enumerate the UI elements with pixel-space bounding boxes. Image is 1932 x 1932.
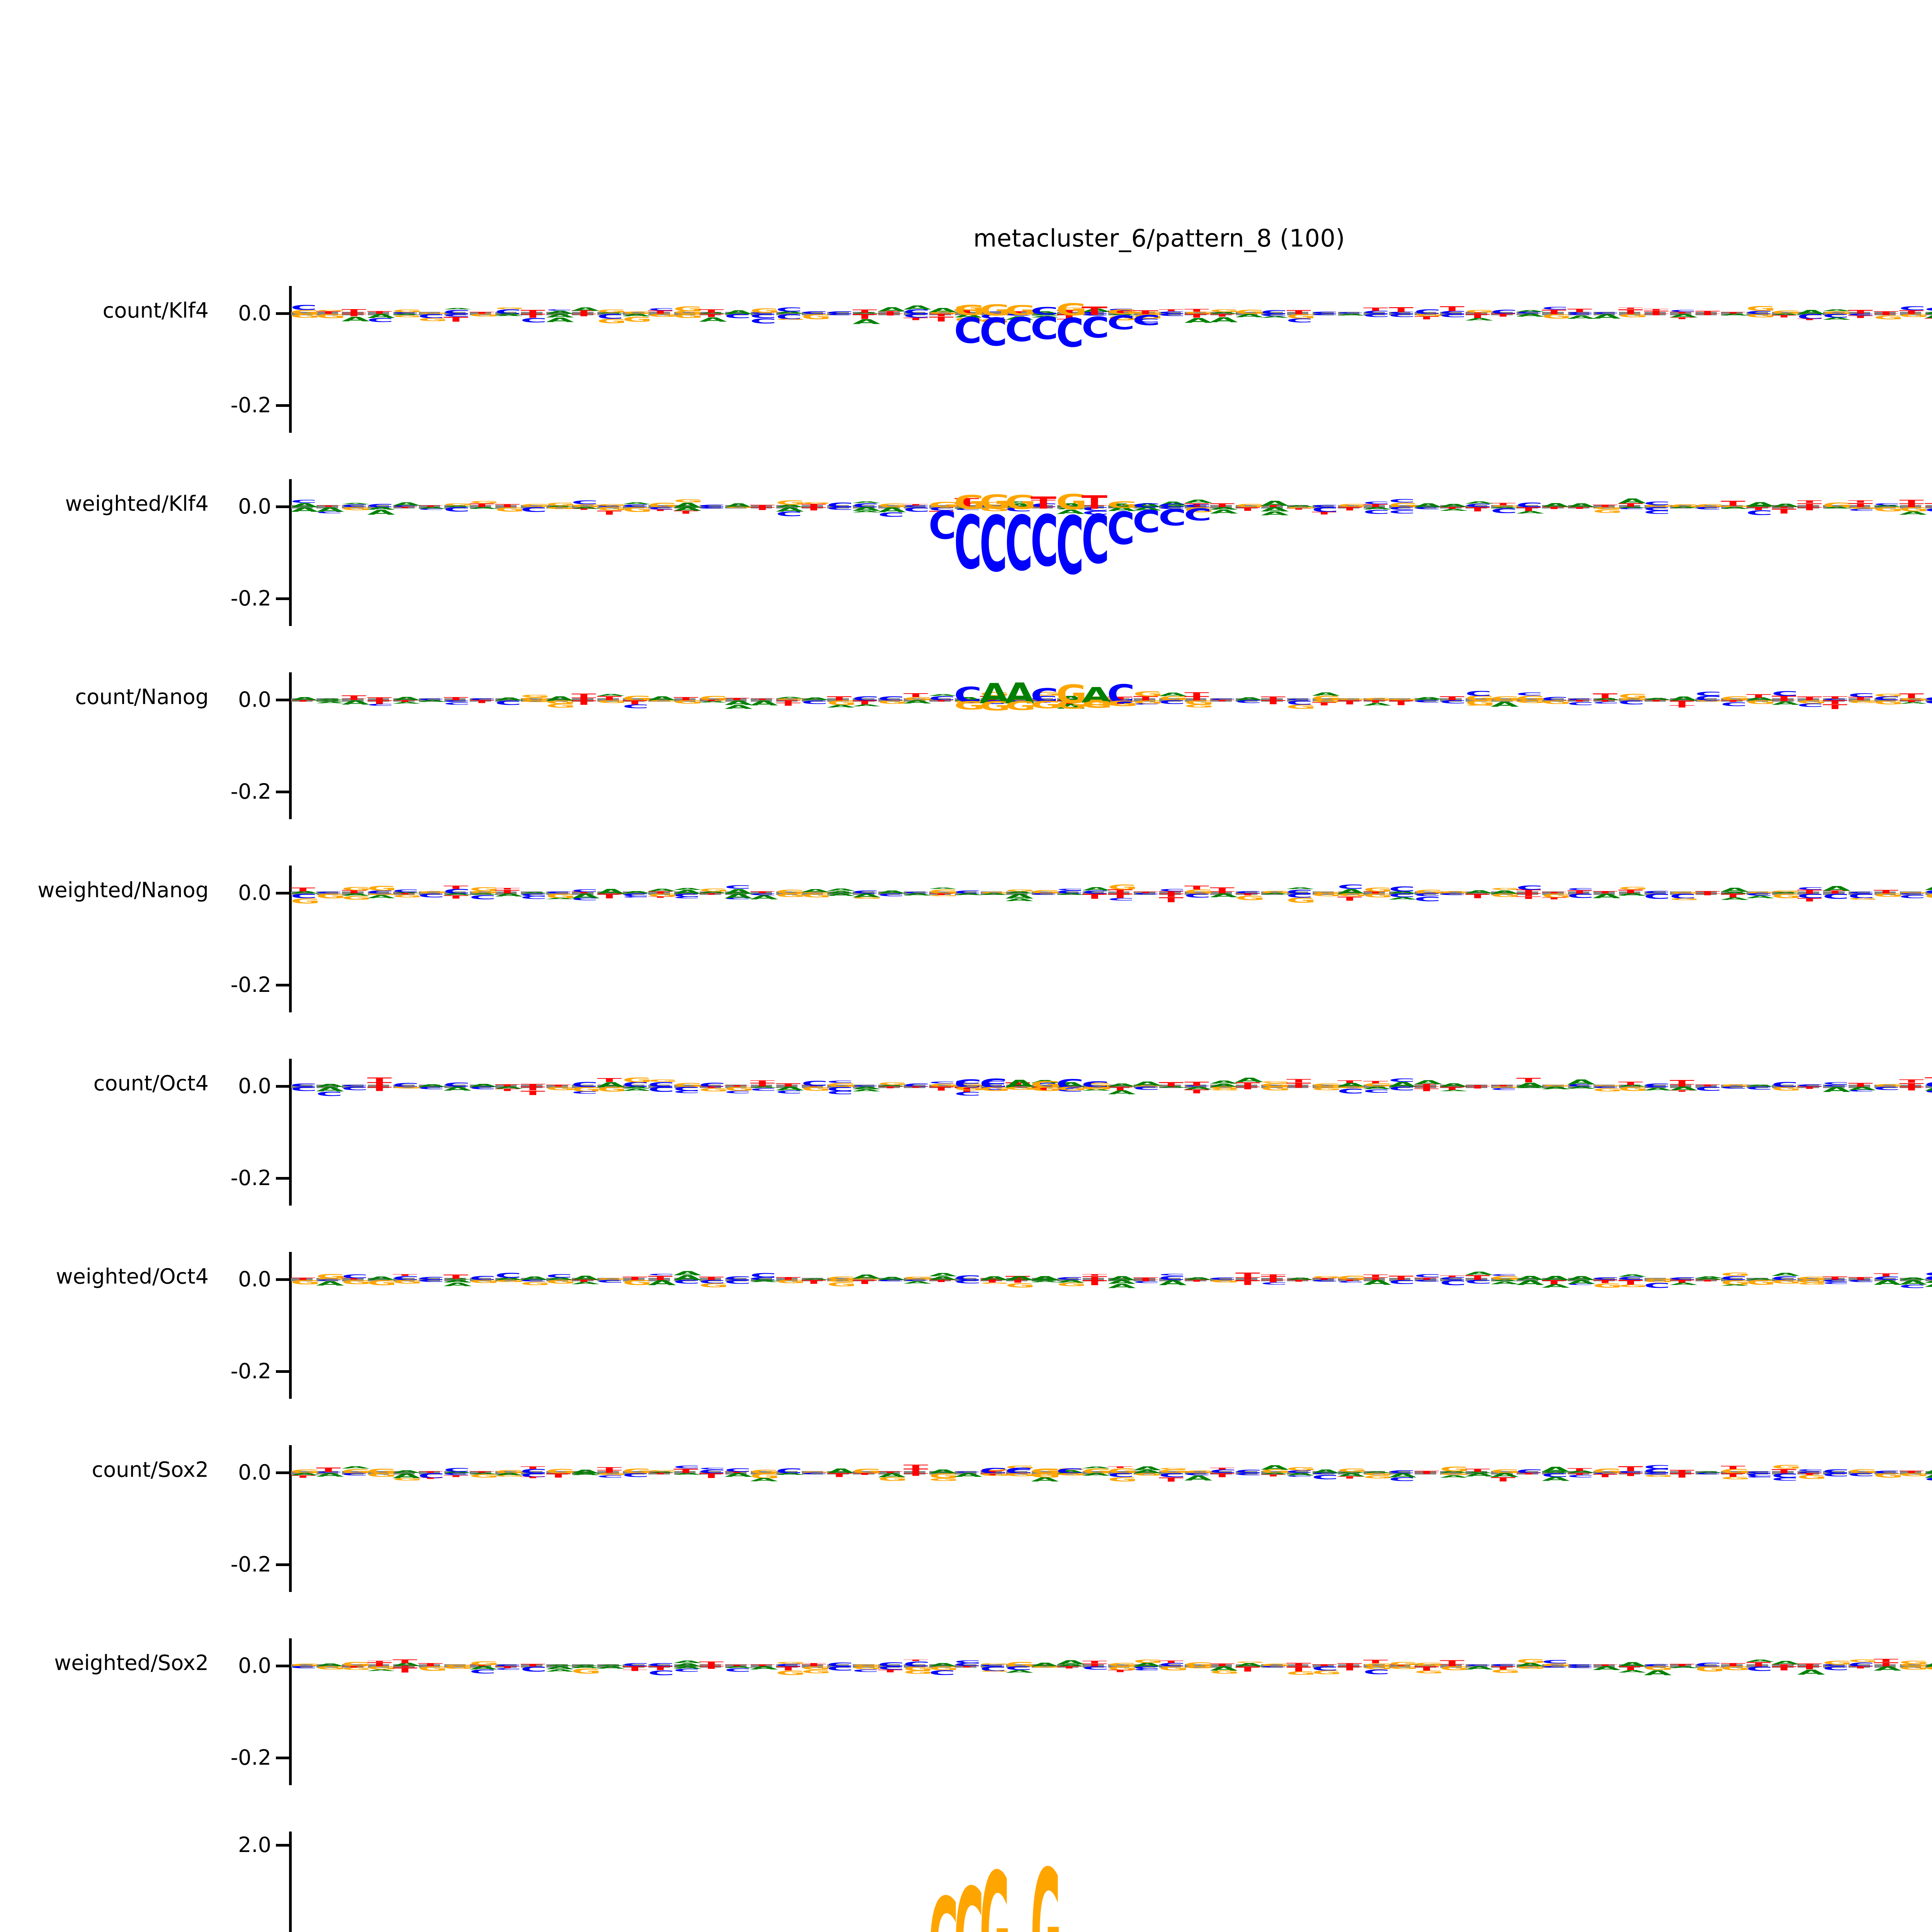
logo-letter-G: G: [393, 1279, 414, 1280]
logo-letter-A: A: [1874, 1666, 1895, 1667]
logo-letter-T: T: [520, 1083, 542, 1084]
logo-letter-C: C: [673, 1279, 695, 1280]
logo-letter-C: C: [418, 1086, 439, 1087]
logo-letter-C: C: [1082, 1080, 1105, 1082]
logo-letter-G: G: [367, 1279, 388, 1280]
logo-letter-G: G: [1235, 503, 1257, 504]
logo-letter-G: G: [648, 502, 669, 503]
logo-letter-C: C: [1082, 507, 1105, 590]
logo-letter-C: C: [724, 1468, 746, 1468]
logo-letter-G: G: [1184, 1662, 1206, 1662]
logo-letter-G: G: [469, 1474, 491, 1474]
y-tick-label: 0.0: [238, 1269, 271, 1290]
logo-letter-C: C: [1644, 501, 1665, 502]
logo-letter-A: A: [546, 317, 567, 318]
logo-letter-A: A: [827, 1468, 848, 1469]
logo-letter-G: G: [954, 303, 977, 307]
logo-letter-A: A: [852, 1274, 874, 1274]
logo-letter-C: C: [1159, 313, 1180, 314]
logo-letter-C: C: [724, 1276, 746, 1276]
logo-letter-A: A: [1899, 1279, 1920, 1280]
logo-letter-A: A: [1363, 507, 1384, 507]
logo-letter-T: T: [1593, 1279, 1614, 1280]
logo-letter-G: G: [316, 1666, 337, 1666]
logo-letter-C: C: [520, 893, 542, 893]
logo-letter-T: T: [827, 696, 848, 696]
logo-letter-C: C: [1414, 309, 1435, 310]
logo-letter-C: C: [1797, 703, 1818, 703]
logo-letter-G: G: [1797, 1279, 1818, 1280]
logo-letter-G: G: [903, 1670, 925, 1670]
y-tick-label: -0.2: [231, 1361, 271, 1382]
logo-letter-C: C: [1899, 1284, 1920, 1284]
logo-letter-A: A: [1899, 1277, 1920, 1277]
logo-letter-G: G: [1772, 1464, 1793, 1465]
logo-letter-C: C: [1312, 1666, 1333, 1667]
logo-letter-C: C: [776, 1468, 797, 1468]
logo-letter-C: C: [724, 885, 746, 885]
logo-letter-G: G: [1031, 1468, 1054, 1469]
logo-letter-G: G: [597, 1086, 618, 1087]
logo-letter-T: T: [1899, 693, 1920, 694]
logo-letter-G: G: [1542, 313, 1563, 314]
y-tick-mark: [276, 1085, 289, 1088]
logo-letter-A: A: [1542, 1275, 1563, 1276]
logo-letter-T: T: [1133, 1277, 1155, 1277]
logo-letter-G: G: [1056, 301, 1079, 306]
y-tick-mark: [276, 1370, 289, 1373]
logo-letter-G: G: [469, 1661, 491, 1661]
logo-letter-T: T: [342, 309, 363, 309]
logo-letter-T: T: [1874, 311, 1895, 311]
logo-letter-T: T: [929, 313, 950, 314]
logo-letter-C: C: [1389, 498, 1410, 499]
logo-letter-A: A: [1797, 309, 1818, 310]
logo-letter-G: G: [393, 1478, 414, 1478]
logo-letter-A: A: [1542, 503, 1563, 503]
logo-letter-G: G: [1465, 700, 1486, 701]
logo-letter-T: T: [1899, 1086, 1920, 1087]
logo-letter-A: A: [929, 1272, 950, 1273]
logo-letter-G: G: [1772, 1086, 1793, 1087]
logo-letter-G: G: [1286, 704, 1308, 705]
logo-letter-A: A: [1772, 1660, 1793, 1661]
y-tick-label: 2.0: [238, 1835, 271, 1855]
logo-letter-A: A: [1848, 1086, 1869, 1087]
logo-letter-A: A: [827, 893, 848, 893]
logo-letter-C: C: [520, 317, 542, 318]
logo-letter-C: C: [1542, 1660, 1563, 1660]
logo-letter-A: A: [1210, 1080, 1231, 1081]
logo-letter-T: T: [1286, 310, 1308, 310]
logo-letter-G: G: [1593, 1283, 1614, 1284]
logo-letter-G: G: [954, 1086, 977, 1087]
logo-letter-C: C: [1746, 510, 1767, 510]
logo-letter-G: G: [393, 309, 414, 310]
logo-letter-A: A: [903, 700, 925, 700]
logo-letter-C: C: [1363, 1089, 1384, 1089]
logo-letter-T: T: [1925, 502, 1932, 503]
logo-letter-G: G: [1235, 895, 1257, 896]
logo-letter-C: C: [1797, 887, 1818, 887]
logo-letter-T: T: [1337, 896, 1359, 896]
logo-letter-C: C: [1567, 893, 1588, 894]
logo-letter-T: T: [852, 313, 874, 314]
logo-canvas: ACATACCAGCAACATTACAGCTGATGGCAGGGCATCGGTC…: [289, 479, 1932, 626]
logo-letter-A: A: [929, 1663, 950, 1663]
logo-letter-T: T: [1618, 1473, 1639, 1473]
logo-letter-T: T: [1082, 305, 1105, 308]
logo-letter-C: C: [724, 1279, 746, 1280]
logo-letter-T: T: [776, 700, 797, 700]
logo-letter-C: C: [750, 1272, 771, 1273]
logo-letter-A: A: [673, 1666, 695, 1666]
y-tick-label: 0.0: [238, 1655, 271, 1676]
logo-letter-A: A: [1005, 679, 1028, 695]
logo-letter-G: G: [1618, 313, 1639, 314]
logo-letter-T: T: [1516, 893, 1537, 893]
logo-letter-A: A: [980, 680, 1003, 694]
logo-letter-C: C: [597, 313, 618, 314]
logo-letter-C: C: [1133, 503, 1156, 503]
track-inf--content: Inf. content2.00.0CGCATCGGAGTGGGACTACAGA…: [0, 1832, 1932, 1932]
logo-letter-G: G: [1644, 1666, 1665, 1666]
logo-letter-G: G: [929, 1882, 952, 1932]
logo-letter-G: G: [1542, 893, 1563, 894]
logo-letter-T: T: [852, 700, 874, 701]
logo-letter-G: G: [1874, 1473, 1895, 1473]
logo-letter-C: C: [852, 890, 874, 891]
y-tick-mark: [276, 1665, 289, 1667]
logo-canvas: GATCTAGACGGAAGTCTACCTTAGGAGCTCTGTAATTGCG…: [289, 1445, 1932, 1592]
logo-letter-G: G: [1823, 1660, 1844, 1661]
logo-letter-G: G: [622, 1279, 644, 1280]
logo-letter-A: A: [1618, 893, 1639, 893]
logo-letter-G: G: [520, 1281, 542, 1282]
logo-letter-G: G: [1874, 315, 1895, 315]
logo-letter-G: G: [852, 1666, 874, 1666]
logo-letter-C: C: [1133, 507, 1156, 524]
logo-letter-A: A: [1108, 1083, 1129, 1083]
logo-letter-T: T: [1695, 311, 1716, 311]
logo-letter-G: G: [1107, 700, 1130, 701]
logo-letter-C: C: [1797, 893, 1818, 894]
logo-letter-C: C: [1184, 893, 1206, 894]
logo-letter-G: G: [1005, 1661, 1027, 1662]
logo-letter-T: T: [1746, 507, 1767, 507]
logo-letter-C: C: [1925, 508, 1932, 508]
logo-letter-A: A: [546, 1666, 567, 1666]
logo-letter-G: G: [1159, 1666, 1180, 1667]
logo-letter-G: G: [1899, 313, 1920, 314]
logo-canvas: ATAAATTATTCATACATCCCTACGGGAGGTTTTAGGTCAG…: [289, 672, 1932, 819]
logo-letter-C: C: [1107, 507, 1130, 544]
logo-letter-C: C: [1159, 1473, 1180, 1473]
logo-letter-A: A: [1823, 885, 1844, 886]
logo-letter-G: G: [291, 1279, 312, 1280]
logo-letter-C: C: [1695, 1662, 1716, 1663]
logo-letter-C: C: [495, 700, 516, 701]
logo-letter-G: G: [929, 1478, 950, 1478]
logo-letter-G: G: [1772, 893, 1793, 894]
logo-letter-A: A: [852, 893, 874, 893]
logo-letter-G: G: [622, 316, 644, 317]
logo-letter-G: G: [750, 1469, 771, 1469]
logo-letter-G: G: [1670, 504, 1691, 504]
logo-letter-G: G: [980, 303, 1003, 307]
logo-letter-C: C: [1056, 313, 1079, 342]
logo-letter-A: A: [367, 1276, 388, 1276]
logo-letter-C: C: [673, 1090, 695, 1091]
logo-letter-C: C: [878, 512, 899, 512]
logo-letter-G: G: [622, 1468, 644, 1469]
logo-letter-T: T: [1721, 1473, 1742, 1473]
logo-letter-A: A: [1465, 1666, 1486, 1666]
logo-letter-A: A: [673, 507, 695, 507]
logo-letter-G: G: [1184, 704, 1206, 704]
logo-letter-A: A: [929, 307, 950, 308]
logo-letter-C: C: [1567, 1475, 1588, 1475]
logo-letter-G: G: [597, 700, 618, 700]
logo-letter-T: T: [316, 1467, 337, 1468]
logo-letter-A: A: [1721, 887, 1742, 888]
logo-letter-C: C: [1056, 1468, 1079, 1468]
y-tick-label: 0.0: [238, 1462, 271, 1483]
logo-letter-T: T: [469, 700, 491, 700]
logo-letter-C: C: [1823, 1666, 1844, 1666]
logo-letter-A: A: [1184, 1475, 1206, 1476]
logo-letter-G: G: [929, 1666, 950, 1666]
logo-letter-G: G: [546, 700, 567, 700]
logo-letter-C: C: [1797, 1084, 1818, 1084]
logo-letter-A: A: [367, 509, 388, 510]
logo-letter-A: A: [367, 313, 388, 314]
logo-letter-C: C: [291, 1083, 312, 1083]
logo-letter-A: A: [1925, 1086, 1932, 1087]
logo-letter-C: C: [546, 1274, 567, 1274]
logo-letter-G: G: [1363, 1473, 1384, 1473]
y-tick-label: 0.0: [238, 303, 271, 324]
logo-letter-A: A: [469, 1083, 491, 1084]
logo-letter-A: A: [1772, 503, 1793, 503]
logo-letter-G: G: [1108, 1666, 1129, 1666]
logo-letter-G: G: [1056, 492, 1079, 500]
logo-letter-T: T: [1721, 1465, 1742, 1466]
logo-letter-C: C: [1389, 507, 1410, 507]
logo-letter-T: T: [903, 1473, 925, 1473]
logo-letter-G: G: [1133, 690, 1155, 691]
logo-letter-C: C: [1184, 507, 1207, 512]
logo-letter-C: C: [1133, 313, 1156, 317]
logo-letter-C: C: [1005, 1666, 1027, 1666]
logo-letter-T: T: [1848, 315, 1869, 316]
logo-letter-G: G: [597, 318, 618, 319]
y-tick-mark: [276, 312, 289, 315]
logo-letter-T: T: [1848, 1666, 1869, 1666]
logo-letter-A: A: [1491, 701, 1512, 702]
logo-letter-G: G: [1797, 1475, 1818, 1475]
logo-letter-A: A: [1440, 503, 1461, 504]
logo-letter-T: T: [418, 1663, 439, 1663]
logo-letter-T: T: [929, 316, 950, 317]
logo-letter-C: C: [622, 893, 644, 893]
y-tick-mark: [276, 1278, 289, 1281]
logo-letter-T: T: [776, 1083, 797, 1083]
logo-letter-A: A: [393, 1470, 414, 1470]
logo-letter-G: G: [1516, 700, 1537, 700]
logo-letter-T: T: [1210, 887, 1231, 888]
logo-letter-C: C: [1695, 1086, 1716, 1087]
logo-letter-G: G: [827, 700, 848, 701]
logo-letter-C: C: [1695, 691, 1716, 692]
logo-letter-C: C: [367, 503, 388, 503]
logo-letter-T: T: [1772, 1666, 1793, 1666]
logo-letter-T: T: [1108, 893, 1129, 894]
logo-letter-G: G: [1133, 1473, 1155, 1473]
logo-letter-G: G: [673, 499, 695, 499]
logo-letter-A: A: [1542, 1476, 1563, 1477]
logo-letter-A: A: [648, 696, 669, 696]
logo-letter-G: G: [1772, 1279, 1793, 1280]
logo-letter-G: G: [1057, 1282, 1078, 1282]
logo-letter-C: C: [342, 1274, 363, 1274]
logo-letter-T: T: [520, 313, 542, 314]
logo-letter-G: G: [367, 1666, 388, 1666]
logo-letter-A: A: [878, 306, 899, 307]
logo-letter-T: T: [1516, 1077, 1537, 1078]
logo-letter-T: T: [699, 309, 720, 309]
logo-letter-G: G: [980, 492, 1003, 500]
logo-letter-C: C: [1925, 700, 1932, 700]
logo-letter-C: C: [1440, 313, 1461, 314]
logo-letter-G: G: [801, 893, 823, 893]
logo-letter-T: T: [571, 700, 593, 701]
logo-letter-A: A: [342, 700, 363, 701]
logo-letter-C: C: [520, 1473, 542, 1473]
logo-letter-G: G: [929, 1473, 950, 1473]
logo-letter-A: A: [1082, 887, 1104, 887]
logo-letter-A: A: [1925, 1282, 1932, 1283]
logo-letter-C: C: [648, 1670, 669, 1670]
logo-letter-G: G: [776, 1279, 797, 1280]
logo-letter-A: A: [699, 317, 720, 318]
logo-letter-C: C: [444, 1082, 465, 1083]
logo-letter-C: C: [724, 1090, 746, 1091]
logo-letter-C: C: [1925, 1477, 1932, 1478]
logo-letter-C: C: [418, 1473, 439, 1473]
logo-letter-G: G: [1363, 1475, 1384, 1476]
track-label: weighted/Nanog: [0, 880, 209, 901]
logo-letter-A: A: [852, 507, 874, 507]
logo-letter-T: T: [367, 1077, 388, 1078]
logo-letter-A: A: [1670, 696, 1691, 697]
logo-letter-C: C: [1261, 310, 1282, 310]
logo-letter-T: T: [1516, 507, 1537, 507]
logo-letter-T: T: [699, 1276, 720, 1277]
logo-letter-A: A: [1542, 1466, 1563, 1467]
logo-letter-C: C: [1848, 893, 1869, 894]
logo-letter-C: C: [1644, 1464, 1665, 1465]
logo-canvas: CCAACCCTTTCGACCAACTATTTTTGCGCATGCGAACGCG…: [289, 1059, 1932, 1206]
logo-letter-C: C: [1133, 1666, 1155, 1666]
logo-letter-T: T: [1031, 495, 1054, 500]
logo-letter-A: A: [316, 1473, 337, 1473]
logo-letter-C: C: [1235, 1473, 1257, 1473]
logo-letter-C: C: [291, 500, 312, 500]
logo-letter-C: C: [1772, 1477, 1793, 1478]
logo-letter-C: C: [1925, 697, 1932, 697]
logo-letter-C: C: [1414, 893, 1435, 893]
logo-letter-T: T: [1670, 700, 1691, 701]
logo-canvas: CGCATCGGAGTGGGACTACAGATACAGTTAAACTAAGGAT…: [289, 1832, 1932, 1932]
logo-letter-C: C: [1363, 509, 1384, 510]
logo-letter-G: G: [827, 1276, 848, 1276]
logo-letter-A: A: [1491, 1473, 1512, 1473]
y-tick-mark: [276, 1844, 289, 1847]
logo-letter-T: T: [1721, 500, 1742, 501]
logo-letter-C: C: [801, 1080, 823, 1081]
logo-letter-T: T: [622, 1276, 644, 1277]
logo-letter-A: A: [1772, 701, 1793, 701]
logo-letter-G: G: [571, 1086, 593, 1087]
logo-letter-G: G: [1721, 1084, 1742, 1084]
logo-letter-G: G: [827, 1282, 848, 1282]
y-tick-label: -0.2: [231, 1747, 271, 1768]
logo-letter-C: C: [1618, 700, 1639, 700]
y-tick-label: -0.2: [231, 975, 271, 995]
logo-letter-G: G: [1797, 1276, 1818, 1277]
logo-letter-A: A: [724, 700, 746, 701]
y-tick-label: -0.2: [231, 1554, 271, 1575]
logo-letter-C: C: [1414, 700, 1435, 700]
logo-letter-T: T: [1235, 507, 1257, 507]
logo-letter-C: C: [342, 1473, 363, 1473]
logo-letter-C: C: [571, 1091, 593, 1091]
logo-letter-G: G: [954, 1870, 977, 1932]
logo-letter-C: C: [520, 896, 542, 896]
logo-letter-A: A: [1363, 1279, 1384, 1280]
logo-letter-C: C: [597, 1279, 618, 1280]
logo-letter-A: A: [750, 1666, 771, 1666]
logo-letter-G: G: [1056, 1086, 1079, 1087]
logo-letter-T: T: [1670, 1663, 1691, 1664]
logo-letter-C: C: [1389, 510, 1410, 510]
logo-letter-T: T: [1823, 700, 1844, 700]
logo-letter-C: C: [980, 507, 1003, 616]
logo-letter-T: T: [622, 1666, 644, 1666]
logo-letter-A: A: [571, 1469, 593, 1469]
logo-letter-C: C: [1874, 1086, 1895, 1087]
logo-letter-G: G: [1491, 696, 1512, 696]
logo-letter-C: C: [648, 1086, 669, 1087]
logo-letter-G: G: [1005, 1282, 1027, 1283]
logo-letter-C: C: [827, 311, 848, 311]
logo-letter-A: A: [1389, 1473, 1410, 1473]
logo-letter-T: T: [1440, 696, 1461, 696]
logo-letter-T: T: [1235, 1279, 1257, 1280]
logo-letter-T: T: [1491, 1476, 1512, 1477]
logo-letter-T: T: [444, 316, 465, 317]
logo-letter-G: G: [1440, 1666, 1461, 1666]
logo-letter-C: C: [1925, 307, 1932, 308]
logo-letter-G: G: [316, 1273, 337, 1274]
track-label: count/Oct4: [0, 1073, 209, 1094]
logo-letter-A: A: [1005, 1276, 1028, 1276]
logo-letter-T: T: [1874, 889, 1895, 890]
logo-letter-G: G: [1031, 889, 1052, 890]
logo-letter-C: C: [954, 507, 977, 607]
logo-letter-A: A: [469, 1666, 491, 1666]
